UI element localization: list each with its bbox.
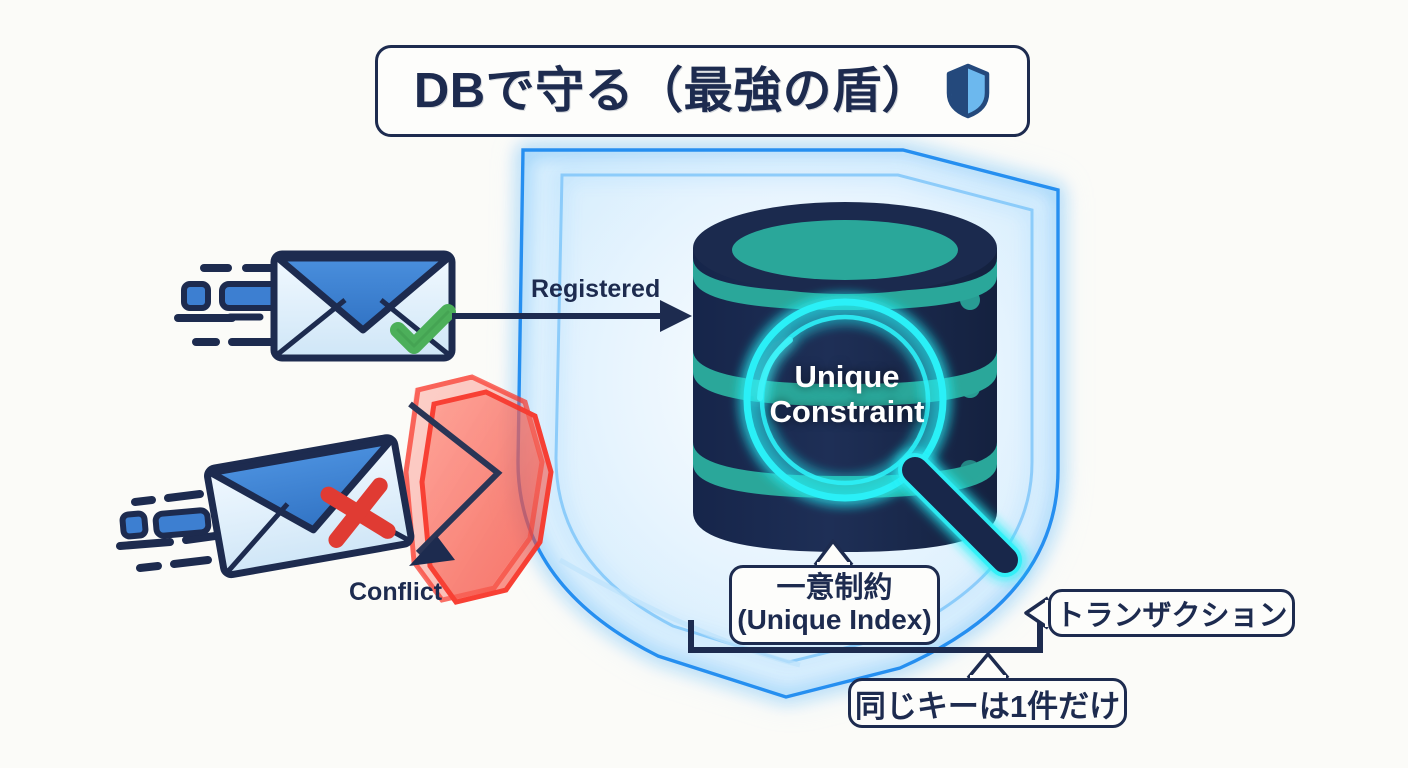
annotation-same-key: 同じキーは1件だけ: [848, 678, 1127, 728]
annotation-connectors: [0, 0, 1408, 768]
annotation-unique-index: 一意制約 (Unique Index): [729, 565, 940, 645]
unique-index-line1: 一意制約: [776, 573, 892, 604]
label-conflict: Conflict: [349, 578, 442, 607]
unique-index-line2: (Unique Index): [737, 605, 931, 635]
infographic-canvas: Unique Constraint: [0, 0, 1408, 768]
annotation-transaction: トランザクション: [1048, 589, 1295, 637]
label-registered: Registered: [531, 275, 660, 304]
